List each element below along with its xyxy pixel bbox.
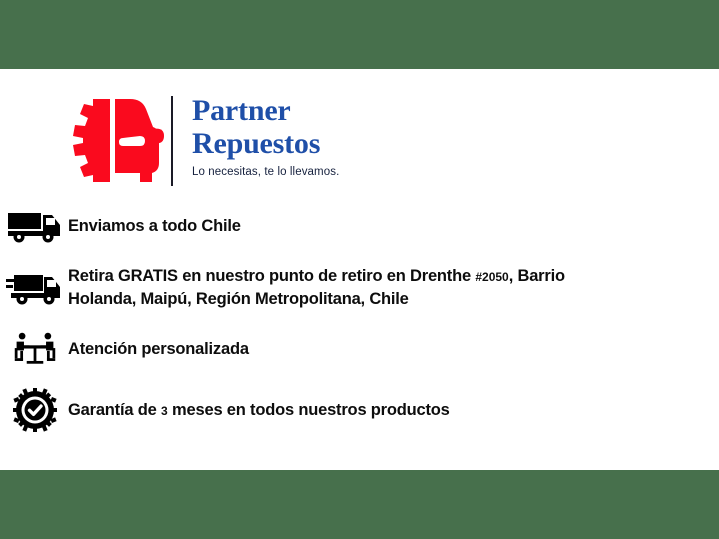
- guarantee-badge-icon: [2, 388, 68, 432]
- fast-truck-icon: [2, 270, 68, 306]
- brand-tagline: Lo necesitas, te lo llevamos.: [192, 166, 339, 178]
- feature-row-pickup: Retira GRATIS en nuestro punto de retiro…: [2, 265, 719, 310]
- feature-row-shipping: Enviamos a todo Chile: [2, 204, 719, 248]
- feature-text-pickup: Retira GRATIS en nuestro punto de retiro…: [68, 265, 628, 310]
- feature-text-support: Atención personalizada: [68, 338, 249, 360]
- banner-content: Partner Repuestos Lo necesitas, te lo ll…: [0, 69, 719, 470]
- feature-text-shipping: Enviamos a todo Chile: [68, 215, 241, 237]
- gear-car-logo-icon: [60, 93, 165, 188]
- logo-divider: [171, 96, 173, 186]
- logo-text-block: Partner Repuestos Lo necesitas, te lo ll…: [192, 94, 339, 178]
- feature-row-support: Atención personalizada: [2, 327, 719, 371]
- feature-list: Enviamos a todo Chile: [0, 204, 719, 449]
- feature-row-warranty: Garantía de 3 meses en todos nuestros pr…: [2, 388, 719, 432]
- brand-name-line-2: Repuestos: [192, 127, 339, 160]
- promo-banner: Partner Repuestos Lo necesitas, te lo ll…: [0, 0, 719, 539]
- delivery-truck-icon: [2, 208, 68, 244]
- logo-lockup: Partner Repuestos Lo necesitas, te lo ll…: [60, 93, 339, 188]
- bottom-green-band: [0, 470, 719, 539]
- top-green-band: [0, 0, 719, 69]
- people-at-table-icon: [2, 331, 68, 367]
- brand-name-line-1: Partner: [192, 94, 339, 127]
- feature-text-warranty: Garantía de 3 meses en todos nuestros pr…: [68, 399, 450, 422]
